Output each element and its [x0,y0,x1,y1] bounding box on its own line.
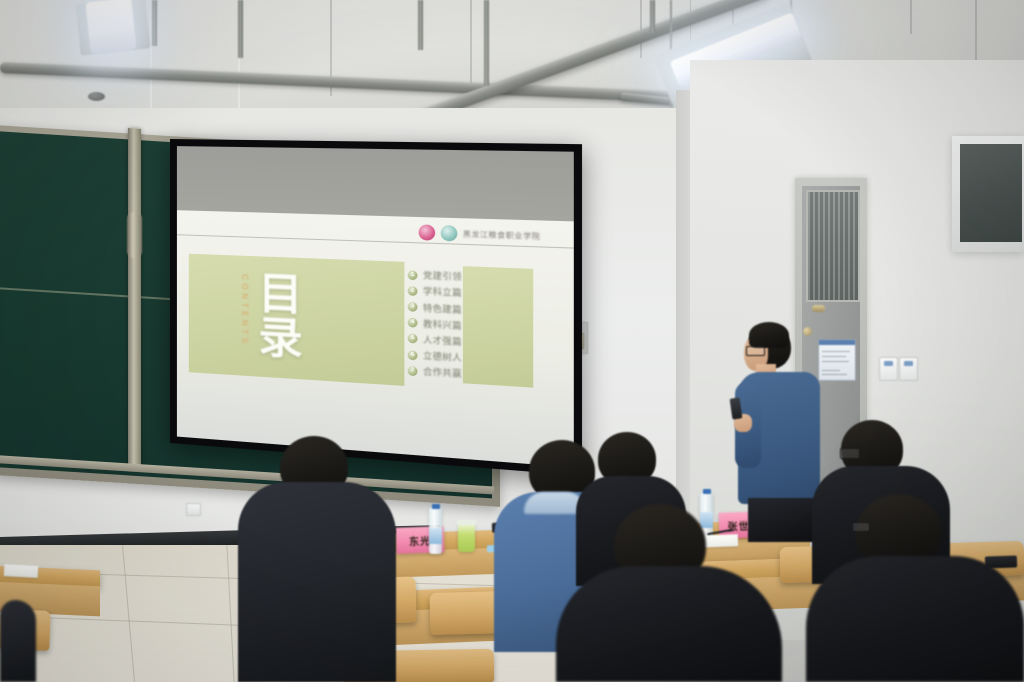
switch-button[interactable] [904,361,913,366]
projection-screen: 黑龙江粮食职业学院 CONTENTS 目录 1 党建引领 2 学科立篇 3 [170,139,582,476]
smoke-detector-icon [88,92,105,101]
wall-window [952,136,1024,252]
attendee-foreground-center-body [556,566,782,682]
classroom-scene: 黑龙江粮食职业学院 CONTENTS 目录 1 党建引领 2 学科立篇 3 [0,0,1024,682]
notice-line [822,356,846,357]
notice-line [822,374,847,375]
attendee-foreground-right-glasses [852,522,870,532]
pipe-hanger [650,0,655,32]
bottle-cap [432,504,440,509]
presenter-hair-top [749,322,789,348]
toc-bullet-5: 5 [408,334,418,344]
attendee-foreground-right-body [806,556,1024,682]
pipe-hanger [418,0,423,50]
toc-bullet-2: 2 [408,286,418,296]
bottle-label [700,512,713,528]
pipe-hanger [484,0,489,86]
floor-tile-line [122,545,135,682]
wall-outlet[interactable] [186,503,201,516]
attendee-right-glasses-frames [840,448,860,459]
toc-bullet-4: 4 [408,318,418,328]
pipe-hanger [238,0,243,58]
slide-contents-english: CONTENTS [240,274,249,350]
pipe-hanger [152,0,157,46]
name-placard-left-text: 东光 [409,532,432,548]
toc-label-6: 立德树人 [423,349,462,364]
water-bottle-left [429,508,442,554]
door-notice [818,339,856,381]
attendee-front-left-body [238,482,396,682]
chalkboard-slider-track[interactable] [128,128,141,465]
ceiling-light-left [85,0,136,54]
slide-contents-chinese: 目录 [254,270,297,360]
notice-line [822,351,850,352]
toc-label-5: 人才强篇 [423,333,462,348]
slide-top-band [177,146,574,221]
slide-institution-text: 黑龙江粮食职业学院 [463,228,541,241]
toc-bullet-6: 6 [408,350,418,360]
projection-screen-surface: 黑龙江粮食职业学院 CONTENTS 目录 1 党建引领 2 学科立篇 3 [177,146,574,467]
presenter-glasses [746,346,765,356]
window-glass [960,144,1022,242]
slide-toc-list: 1 党建引领 2 学科立篇 3 特色建篇 4 教科兴篇 5 人才强篇 [408,267,462,382]
toc-label-7: 合作共赢 [423,365,462,380]
drink-cup-left [458,523,475,552]
chalkboard-slider-handle[interactable] [127,212,142,258]
attendee-left-edge [0,600,36,682]
documents-left-desk[interactable] [4,564,39,578]
cup-lid [457,520,476,525]
slide-green-block-right [463,266,533,388]
university-seal-teal-icon [441,225,458,241]
light-switch-plate-right[interactable] [899,357,918,381]
toc-label-4: 教科兴篇 [423,317,462,332]
toc-bullet-3: 3 [408,302,418,312]
light-switch-plate-left[interactable] [879,357,898,381]
bottle-label [429,528,442,544]
toc-bullet-1: 1 [408,270,418,280]
notice-line [822,361,849,362]
floor-tile-line [226,545,234,682]
door-lock-icon[interactable] [803,327,812,336]
door-glass-panel [806,190,860,302]
toc-label-3: 特色建篇 [423,301,462,316]
notice-header-bar [819,340,855,345]
presenter-legs [748,498,814,542]
toc-label-1: 党建引领 [423,269,462,283]
bottle-cap [703,489,711,494]
notice-line [822,370,840,371]
door-blind [808,192,858,300]
door-handle[interactable] [812,305,825,312]
toc-label-2: 学科立篇 [423,285,462,299]
switch-button[interactable] [884,361,893,366]
toc-bullet-7: 7 [408,366,418,376]
university-seal-pink-icon [419,224,436,240]
toc-item[interactable]: 7 合作共赢 [408,363,462,382]
